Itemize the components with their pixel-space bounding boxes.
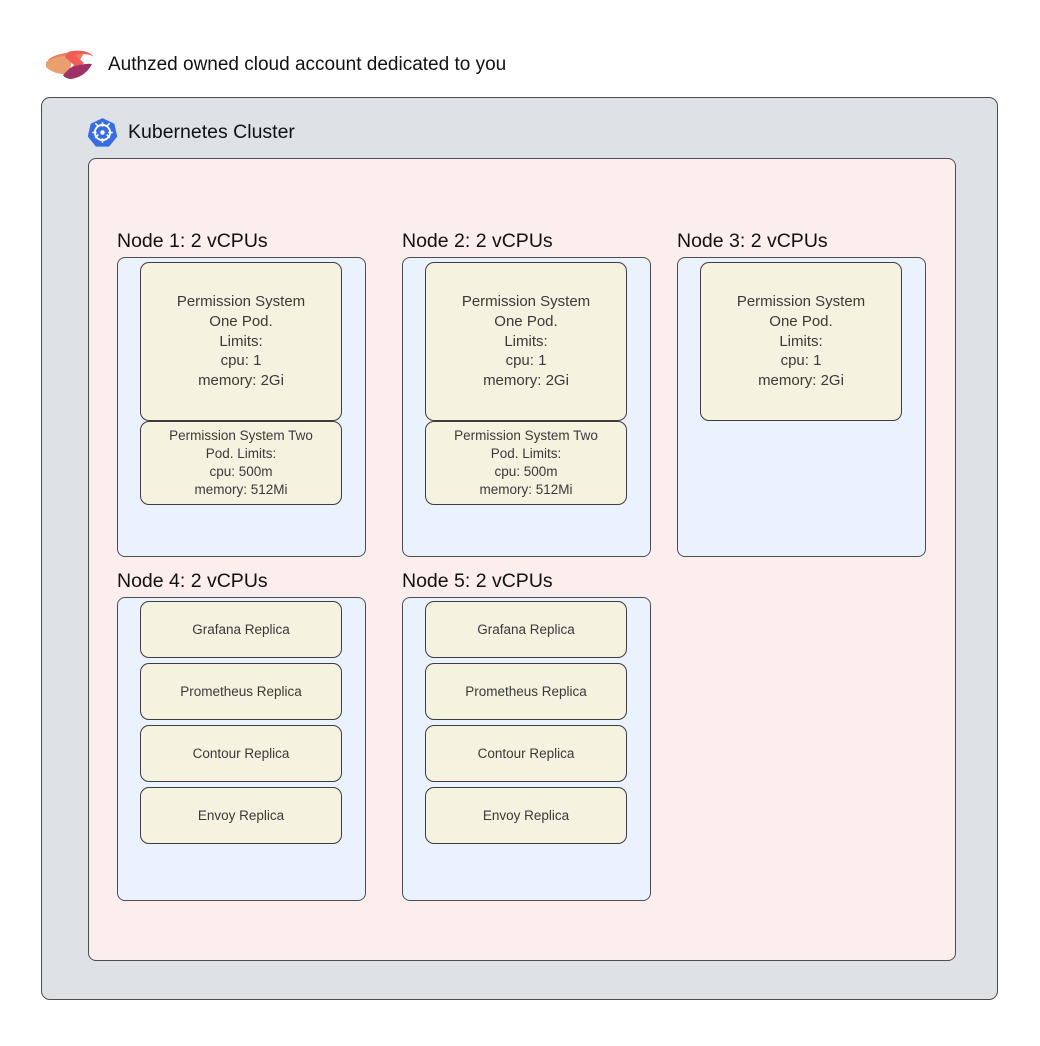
node4-grafana-replica-pod: Grafana Replica xyxy=(140,601,342,658)
cluster-title: Kubernetes Cluster xyxy=(128,123,295,143)
node1-permission-system-two-pod: Permission System Two Pod. Limits: cpu: … xyxy=(140,421,342,505)
node4-envoy-replica-pod: Envoy Replica xyxy=(140,787,342,844)
node5-grafana-replica-pod: Grafana Replica xyxy=(425,601,627,658)
node-label-4: Node 4: 2 vCPUs xyxy=(117,572,268,592)
node4-contour-replica-pod: Contour Replica xyxy=(140,725,342,782)
node1-permission-system-one-pod: Permission System One Pod. Limits: cpu: … xyxy=(140,262,342,421)
node5-prometheus-replica-pod: Prometheus Replica xyxy=(425,663,627,720)
node5-contour-replica-pod: Contour Replica xyxy=(425,725,627,782)
node2-permission-system-two-pod: Permission System Two Pod. Limits: cpu: … xyxy=(425,421,627,505)
authzed-logo-icon xyxy=(40,44,96,84)
node-label-2: Node 2: 2 vCPUs xyxy=(402,232,553,252)
node5-envoy-replica-pod: Envoy Replica xyxy=(425,787,627,844)
kubernetes-cluster-header: Kubernetes Cluster xyxy=(87,117,295,148)
page-title: Authzed owned cloud account dedicated to… xyxy=(108,55,506,74)
node-label-1: Node 1: 2 vCPUs xyxy=(117,232,268,252)
node4-prometheus-replica-pod: Prometheus Replica xyxy=(140,663,342,720)
node2-permission-system-one-pod: Permission System One Pod. Limits: cpu: … xyxy=(425,262,627,421)
node-label-3: Node 3: 2 vCPUs xyxy=(677,232,828,252)
kubernetes-icon xyxy=(87,117,118,148)
node3-permission-system-one-pod: Permission System One Pod. Limits: cpu: … xyxy=(700,262,902,421)
page-header: Authzed owned cloud account dedicated to… xyxy=(40,44,506,84)
node-label-5: Node 5: 2 vCPUs xyxy=(402,572,553,592)
